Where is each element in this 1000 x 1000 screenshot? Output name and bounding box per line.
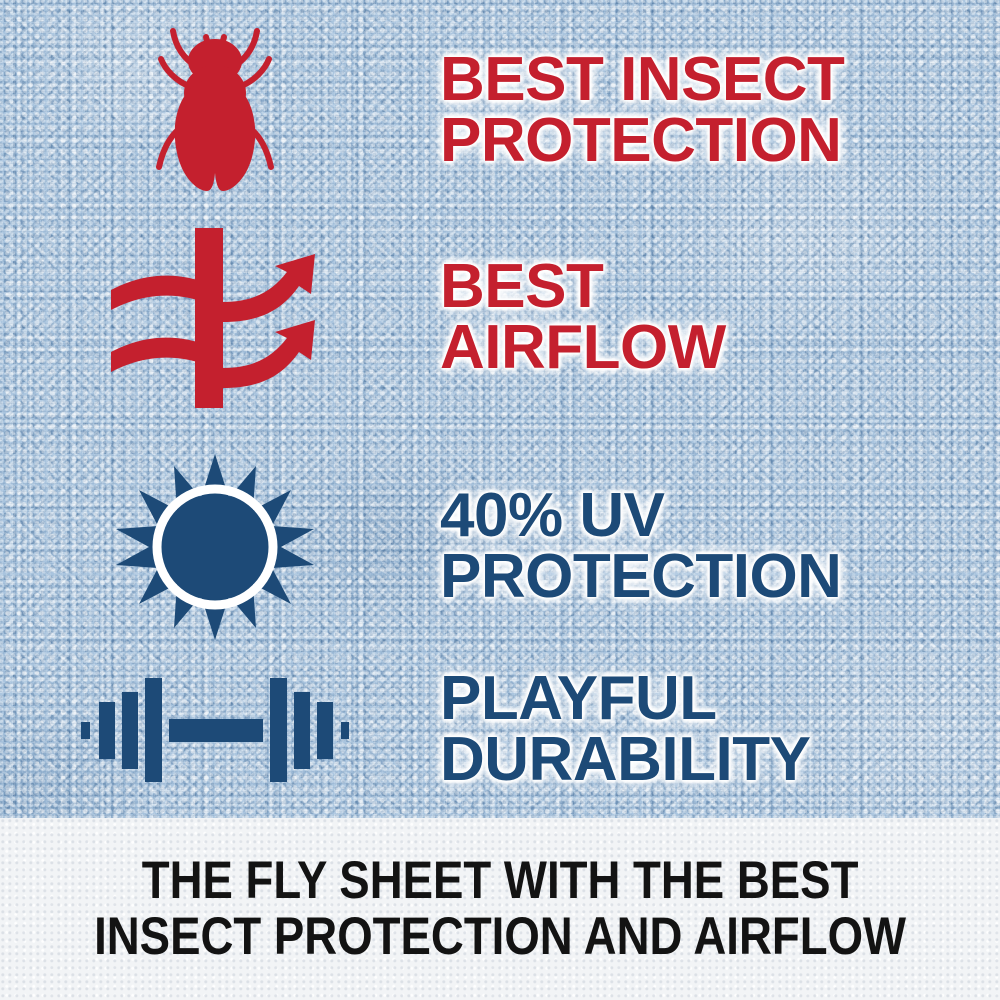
feature-row-insect-protection: BEST INSECT PROTECTION — [0, 18, 1000, 203]
feature-icon-cell — [0, 21, 430, 201]
airflow-icon — [105, 228, 325, 408]
feature-text-cell: BEST AIRFLOW — [430, 257, 1000, 379]
feature-text-cell: PLAYFUL DURABILITY — [430, 669, 1000, 791]
caption-headline: THE FLY SHEET WITH THE BEST INSECT PROTE… — [94, 853, 906, 965]
feature-row-uv-protection: 40% UV PROTECTION — [0, 452, 1000, 642]
fly-icon — [135, 21, 295, 201]
feature-icon-cell — [0, 228, 430, 408]
feature-text-cell: BEST INSECT PROTECTION — [430, 50, 1000, 172]
feature-label-uv-protection: 40% UV PROTECTION — [440, 486, 1000, 608]
feature-text-cell: 40% UV PROTECTION — [430, 486, 1000, 608]
feature-icon-cell — [0, 665, 430, 795]
caption-bar: THE FLY SHEET WITH THE BEST INSECT PROTE… — [0, 818, 1000, 1000]
feature-label-durability: PLAYFUL DURABILITY — [440, 669, 1000, 791]
feature-icon-cell — [0, 452, 430, 642]
feature-label-insect-protection: BEST INSECT PROTECTION — [440, 50, 1000, 172]
sun-uv-icon — [115, 452, 315, 642]
feature-row-durability: PLAYFUL DURABILITY — [0, 660, 1000, 800]
feature-label-airflow: BEST AIRFLOW — [440, 257, 1000, 379]
dumbbell-icon — [81, 665, 349, 795]
product-feature-infographic: BEST INSECT PROTECTION BEST AIRFL — [0, 0, 1000, 1000]
feature-row-airflow: BEST AIRFLOW — [0, 228, 1000, 408]
